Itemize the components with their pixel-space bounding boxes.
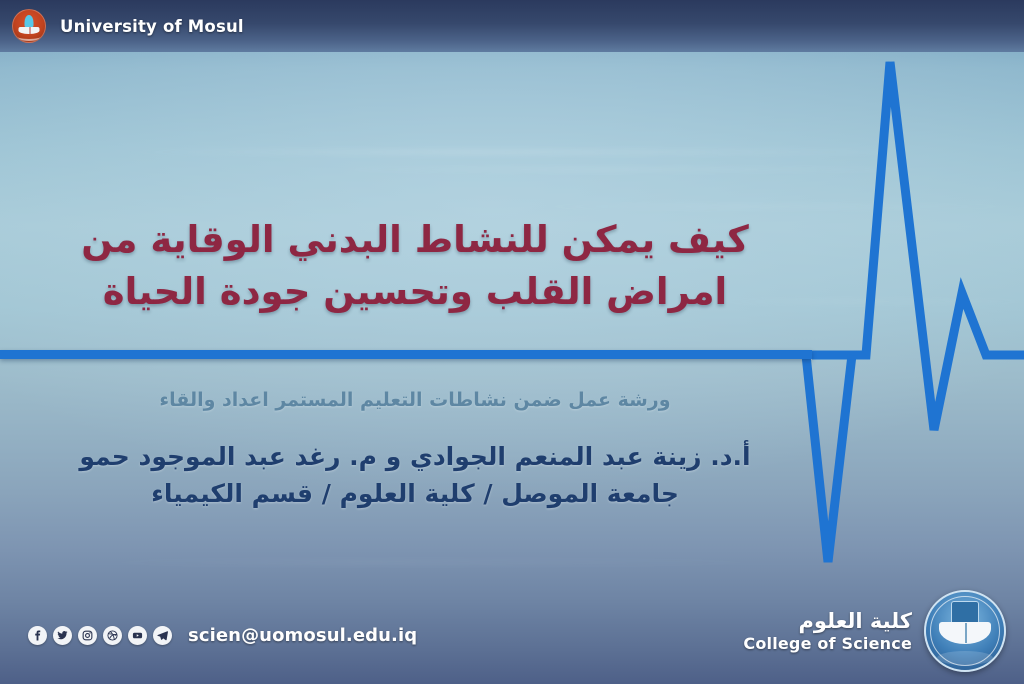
twitter-icon[interactable]: [53, 626, 72, 645]
poster-canvas: University of Mosul كيف يمكن للنشاط البد…: [0, 0, 1024, 684]
college-branding-group: كلية العلوم College of Science: [743, 590, 1006, 672]
poster-title: كيف يمكن للنشاط البدني الوقاية من امراض …: [0, 214, 830, 318]
college-name-text: كلية العلوم College of Science: [743, 608, 912, 654]
college-name-arabic: كلية العلوم: [743, 608, 912, 634]
presenter-names: أ.د. زينة عبد المنعم الجوادي و م. رغد عب…: [0, 438, 830, 475]
university-crest-icon: [12, 9, 46, 43]
footer-contact-group: scien@uomosul.edu.iq: [28, 625, 417, 646]
facebook-icon[interactable]: [28, 626, 47, 645]
title-line-1: كيف يمكن للنشاط البدني الوقاية من: [0, 214, 830, 266]
presenter-affiliation: جامعة الموصل / كلية العلوم / قسم الكيميا…: [0, 475, 830, 512]
top-header-bar: University of Mosul: [0, 0, 1024, 52]
telegram-icon[interactable]: [153, 626, 172, 645]
youtube-icon[interactable]: [128, 626, 147, 645]
dribbble-icon[interactable]: [103, 626, 122, 645]
title-line-2: امراض القلب وتحسين جودة الحياة: [0, 266, 830, 318]
college-of-science-seal-icon: [924, 590, 1006, 672]
presenters-block: أ.د. زينة عبد المنعم الجوادي و م. رغد عب…: [0, 438, 830, 512]
title-underline-rule: [0, 350, 812, 359]
college-name-english: College of Science: [743, 634, 912, 654]
university-name-label: University of Mosul: [60, 17, 244, 36]
poster-subtitle: ورشة عمل ضمن نشاطات التعليم المستمر اعدا…: [0, 389, 830, 411]
instagram-icon[interactable]: [78, 626, 97, 645]
heartbeat-ecg-line-icon: [0, 0, 1024, 684]
contact-email[interactable]: scien@uomosul.edu.iq: [188, 625, 417, 646]
